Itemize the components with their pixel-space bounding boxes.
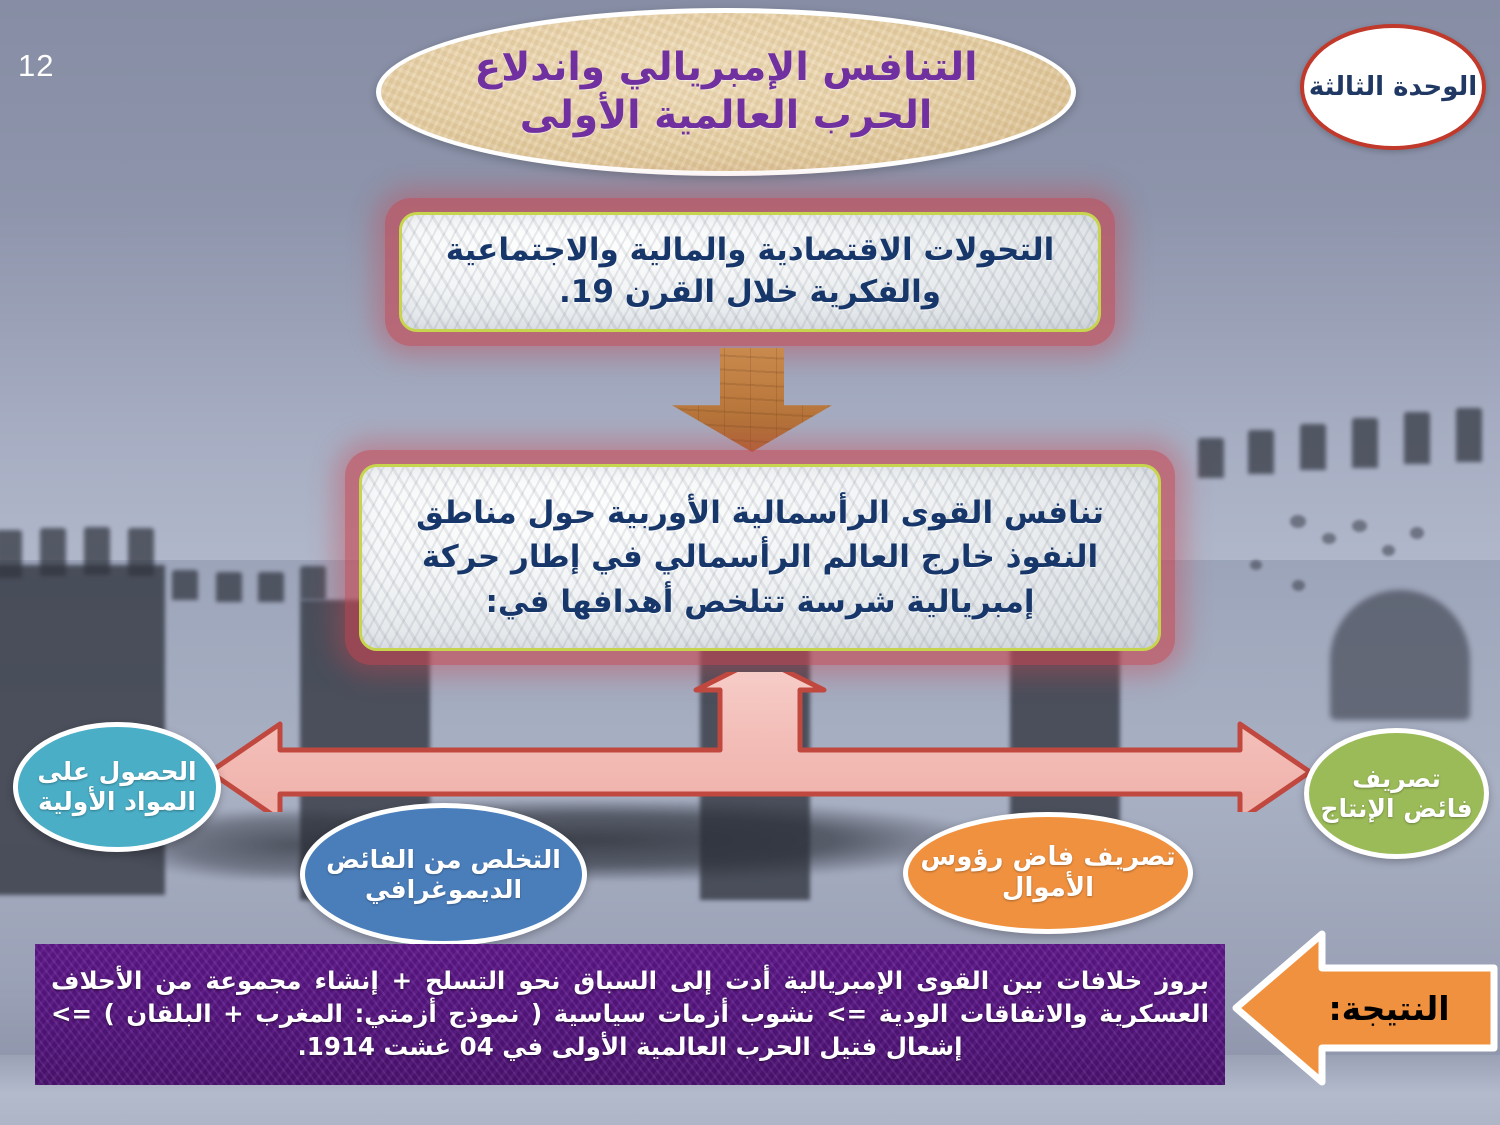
box-rivalry-text: تنافس القوى الرأسمالية الأوربية حول مناط…	[362, 485, 1158, 629]
merlon	[0, 530, 22, 578]
box-transformations-text: التحولات الاقتصادية والمالية والاجتماعية…	[402, 224, 1098, 320]
box-rivalry: تنافس القوى الرأسمالية الأوربية حول مناط…	[345, 450, 1175, 665]
goal-production-surplus-label: تصريف فائض الإنتاج	[1309, 764, 1484, 824]
speck	[1410, 527, 1424, 539]
slide-title-ellipse: التنافس الإمبريالي واندلاع الحرب العالمي…	[376, 8, 1076, 176]
goal-capital-surplus: تصريف فاض رؤوس الأموال	[903, 812, 1193, 934]
speck	[1322, 533, 1336, 544]
merlon	[1248, 430, 1274, 474]
merlon	[40, 528, 66, 576]
speck	[1250, 560, 1262, 570]
box-transformations: التحولات الاقتصادية والمالية والاجتماعية…	[385, 198, 1115, 346]
speck	[1382, 545, 1395, 556]
page-number: 12	[18, 48, 54, 84]
merlon	[1300, 424, 1326, 470]
goal-production-surplus: تصريف فائض الإنتاج	[1304, 728, 1489, 859]
goal-raw-materials-label: الحصول على المواد الأولية	[18, 757, 216, 817]
fortress-dome	[1330, 590, 1470, 720]
goal-demographic-surplus: التخلص من الفائض الديموغرافي	[300, 803, 587, 946]
merlon	[84, 527, 110, 575]
unit-badge-label: الوحدة الثالثة	[1309, 71, 1477, 104]
down-arrow-icon	[672, 348, 832, 452]
goal-capital-surplus-label: تصريف فاض رؤوس الأموال	[908, 842, 1188, 904]
merlon	[1198, 438, 1224, 478]
speck	[1290, 515, 1306, 528]
box-rivalry-panel: تنافس القوى الرأسمالية الأوربية حول مناط…	[359, 464, 1161, 651]
merlon	[1456, 408, 1482, 462]
merlon	[128, 528, 154, 576]
result-text: بروز خلافات بين القوى الإمبريالية أدت إل…	[35, 961, 1225, 1067]
merlon	[1404, 412, 1430, 464]
tri-directional-arrow-icon	[210, 672, 1310, 812]
result-arrow-icon: النتيجة:	[1232, 928, 1498, 1088]
result-box: بروز خلافات بين القوى الإمبريالية أدت إل…	[35, 944, 1225, 1085]
box-transformations-panel: التحولات الاقتصادية والمالية والاجتماعية…	[399, 212, 1101, 332]
result-arrow-label: النتيجة:	[1294, 928, 1484, 1088]
merlon	[1352, 418, 1378, 468]
speck	[1292, 580, 1305, 591]
down-arrow-shape	[672, 348, 832, 452]
merlon	[300, 566, 326, 600]
speck	[1352, 520, 1367, 532]
merlon	[216, 572, 242, 602]
page-title: التنافس الإمبريالي واندلاع الحرب العالمي…	[381, 44, 1071, 139]
slide-canvas: 12 التنافس الإمبريالي واندلاع الحرب العا…	[0, 0, 1500, 1125]
merlon	[172, 570, 198, 600]
merlon	[258, 572, 284, 602]
goal-demographic-surplus-label: التخلص من الفائض الديموغرافي	[305, 845, 582, 905]
unit-badge: الوحدة الثالثة	[1300, 24, 1486, 150]
goal-raw-materials: الحصول على المواد الأولية	[13, 722, 221, 852]
